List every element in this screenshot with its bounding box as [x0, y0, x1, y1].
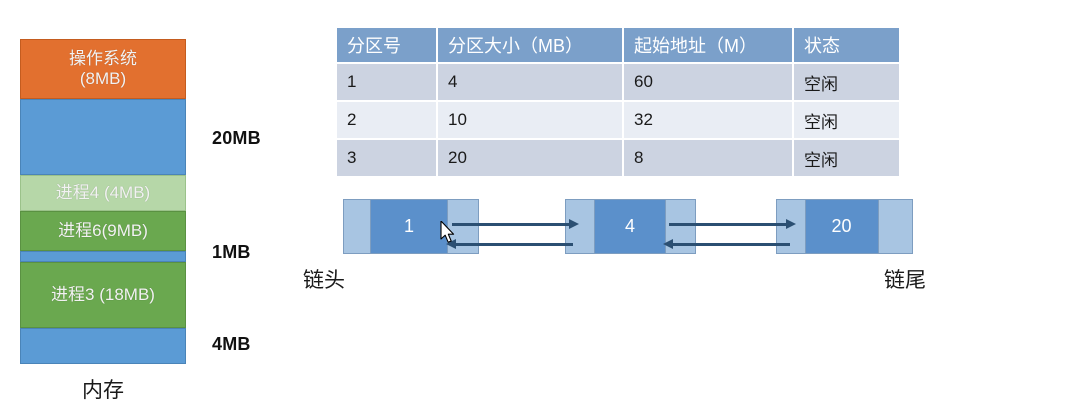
node-value: 4 [625, 216, 635, 237]
memory-block-os-label: 操作系统 [69, 49, 137, 69]
mouse-pointer-icon [440, 221, 456, 244]
memory-block-process4: 进程4 (4MB) [20, 175, 186, 211]
memory-block-process6: 进程6(9MB) [20, 211, 186, 251]
node-prev-pointer-cell [777, 200, 805, 253]
list-node: 1 [343, 199, 479, 254]
node-value-cell: 20 [805, 200, 879, 253]
memory-block-free-4mb [20, 328, 186, 364]
cell-status: 空闲 [793, 101, 900, 139]
cell-start-address: 60 [623, 63, 793, 101]
link-arrow-next-2-3 [669, 223, 787, 226]
list-tail-label: 链尾 [884, 264, 926, 294]
link-arrow-prev-2-1 [455, 243, 573, 246]
memory-size-label-20mb: 20MB [212, 128, 261, 149]
memory-size-label-1mb: 1MB [212, 242, 251, 263]
list-head-label: 链头 [303, 264, 345, 294]
node-value-cell: 4 [594, 200, 667, 253]
node-next-pointer-cell [666, 200, 695, 253]
memory-layout-diagram: 操作系统 (8MB) 进程4 (4MB) 进程6(9MB) 进程3 (18MB)… [20, 39, 186, 364]
memory-diagram-caption: 内存 [20, 374, 186, 404]
table-header-row: 分区号 分区大小（MB） 起始地址（M） 状态 [337, 28, 900, 63]
memory-block-process3: 进程3 (18MB) [20, 262, 186, 328]
memory-block-free-20mb [20, 99, 186, 175]
column-header-partition-no: 分区号 [337, 28, 437, 63]
cell-partition-no: 1 [337, 63, 437, 101]
memory-block-free-1mb [20, 251, 186, 262]
column-header-status: 状态 [793, 28, 900, 63]
free-partition-table: 分区号 分区大小（MB） 起始地址（M） 状态 1 4 60 空闲 2 10 3… [337, 28, 901, 178]
watermark-text [852, 398, 1052, 410]
node-next-pointer-cell [879, 200, 913, 253]
cell-partition-no: 3 [337, 139, 437, 177]
node-value: 1 [404, 216, 414, 237]
table-row: 3 20 8 空闲 [337, 139, 900, 177]
node-prev-pointer-cell [566, 200, 594, 253]
node-prev-pointer-cell [344, 200, 370, 253]
memory-block-process4-label: 进程4 (4MB) [56, 183, 150, 203]
node-value-cell: 1 [370, 200, 449, 253]
cell-status: 空闲 [793, 63, 900, 101]
cell-partition-size: 4 [437, 63, 623, 101]
column-header-partition-size: 分区大小（MB） [437, 28, 623, 63]
cell-partition-no: 2 [337, 101, 437, 139]
cell-partition-size: 10 [437, 101, 623, 139]
link-arrow-next-1-2 [452, 223, 570, 226]
list-node: 20 [776, 199, 913, 254]
column-header-start-address: 起始地址（M） [623, 28, 793, 63]
cell-start-address: 8 [623, 139, 793, 177]
cell-partition-size: 20 [437, 139, 623, 177]
memory-size-label-4mb: 4MB [212, 334, 251, 355]
cell-start-address: 32 [623, 101, 793, 139]
node-value: 20 [832, 216, 852, 237]
table-row: 2 10 32 空闲 [337, 101, 900, 139]
memory-block-os: 操作系统 (8MB) [20, 39, 186, 99]
memory-block-os-size: (8MB) [80, 69, 126, 89]
cell-status: 空闲 [793, 139, 900, 177]
table-row: 1 4 60 空闲 [337, 63, 900, 101]
memory-block-process6-label: 进程6(9MB) [58, 221, 148, 241]
list-node: 4 [565, 199, 696, 254]
memory-block-process3-label: 进程3 (18MB) [51, 285, 155, 305]
link-arrow-prev-3-2 [672, 243, 790, 246]
